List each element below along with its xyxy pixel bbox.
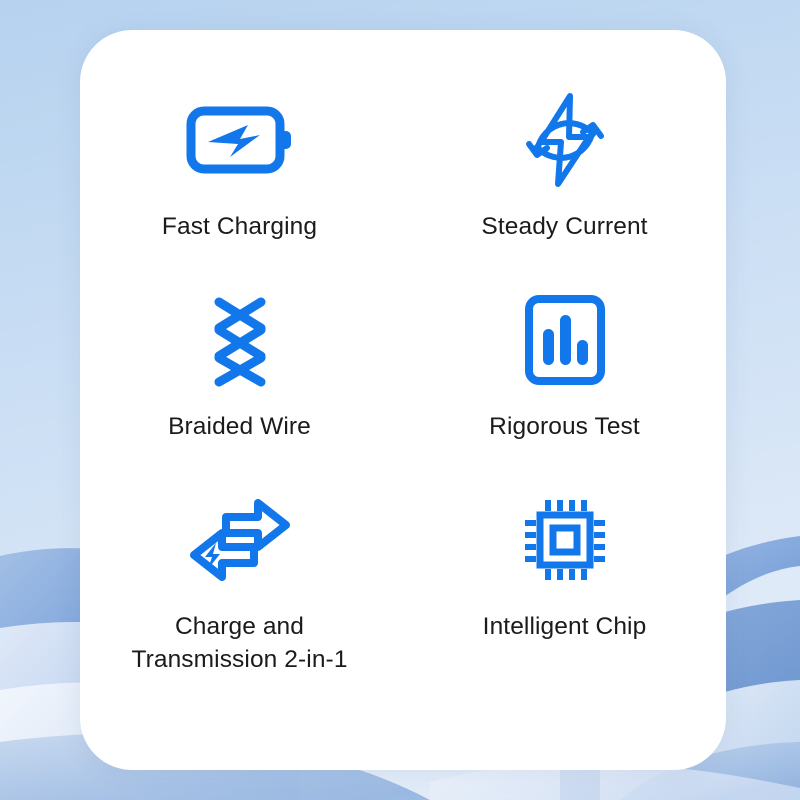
battery-bolt-icon <box>186 92 294 188</box>
feature-label: Charge and Transmission 2-in-1 <box>131 610 347 676</box>
two-way-arrows-bolt-icon <box>186 492 294 588</box>
feature-label: Intelligent Chip <box>483 610 647 643</box>
feature-item-braided-wire[interactable]: Braided Wire <box>78 292 401 492</box>
feature-label: Fast Charging <box>162 210 317 243</box>
feature-item-steady-current[interactable]: Steady Current <box>403 92 726 292</box>
feature-item-rigorous-test[interactable]: Rigorous Test <box>403 292 726 492</box>
bar-chart-icon <box>524 292 606 388</box>
feature-grid: Fast Charging <box>80 92 726 692</box>
product-feature-graphic: Fast Charging <box>0 0 800 800</box>
feature-label: Braided Wire <box>168 410 311 443</box>
feature-label: Steady Current <box>481 210 647 243</box>
feature-card: Fast Charging <box>80 30 726 770</box>
braid-icon <box>205 292 275 388</box>
feature-label: Rigorous Test <box>489 410 640 443</box>
feature-item-charge-and-transmission[interactable]: Charge and Transmission 2-in-1 <box>78 492 401 692</box>
cycle-bolt-icon <box>515 92 615 188</box>
feature-item-intelligent-chip[interactable]: Intelligent Chip <box>403 492 726 692</box>
feature-item-fast-charging[interactable]: Fast Charging <box>78 92 401 292</box>
cpu-chip-icon <box>519 492 611 588</box>
